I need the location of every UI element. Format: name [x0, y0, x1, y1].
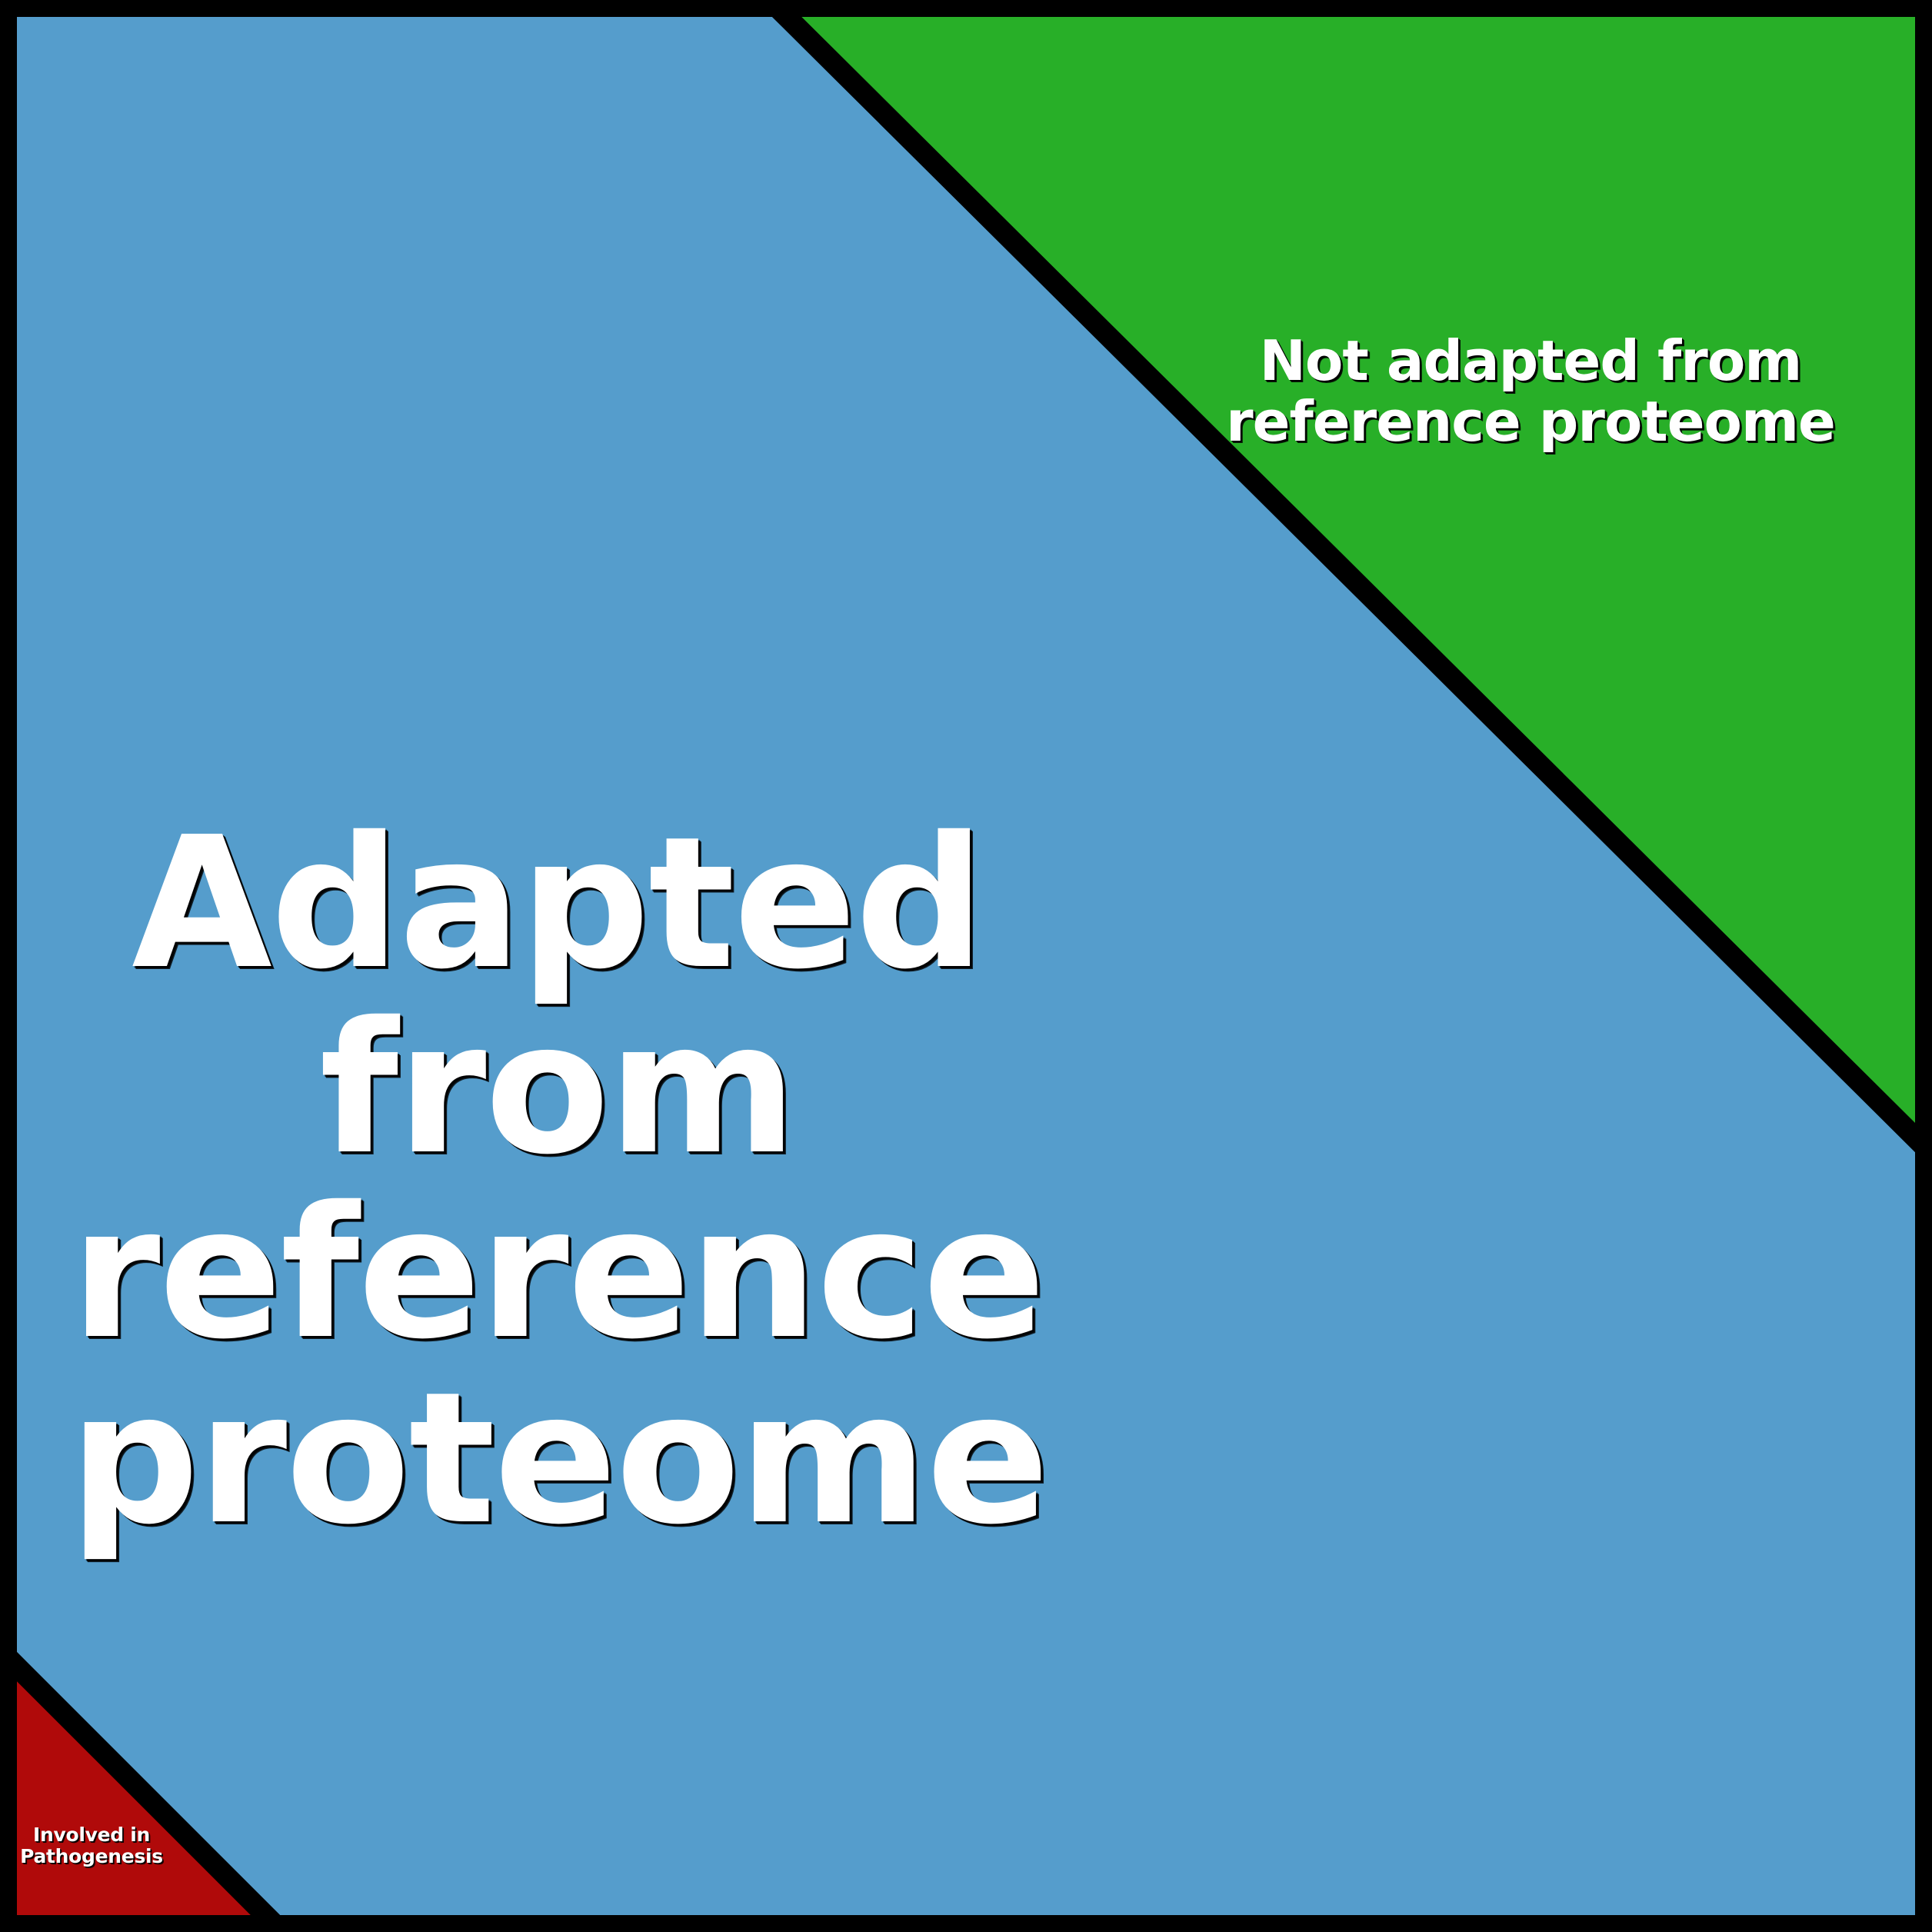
diagram-canvas: Adapted from reference proteome Not adap…	[0, 0, 1932, 1932]
region-label-adapted-from-reference-proteome: Adapted from reference proteome	[69, 811, 1046, 1552]
region-label-involved-in-pathogenesis: Involved in Pathogenesis	[11, 1824, 172, 1867]
region-label-not-adapted-from-reference-proteome: Not adapted from reference proteome	[1169, 331, 1892, 452]
